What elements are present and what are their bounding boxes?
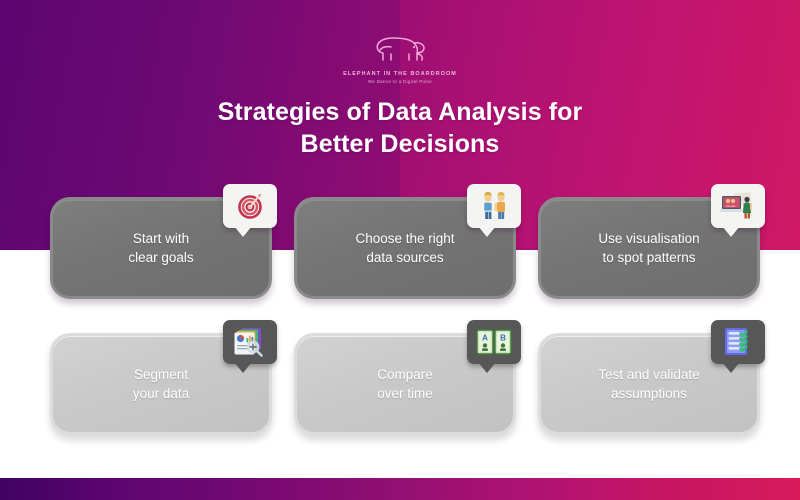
card-label: Test and validate assumptions	[551, 365, 747, 403]
icon-bubble	[223, 184, 277, 228]
icon-bubble	[711, 320, 765, 364]
card-segment-your-data[interactable]: Segment your data	[50, 333, 272, 435]
svg-text:A: A	[482, 334, 488, 343]
card-label: Use visualisation to spot patterns	[551, 229, 747, 267]
icon-bubble	[223, 320, 277, 364]
card-choose-the-right-data-sources[interactable]: Choose the right data sources	[294, 197, 516, 299]
svg-text:B: B	[500, 334, 506, 343]
card-compare-over-time[interactable]: Compare over time A B	[294, 333, 516, 435]
background-band-bottom	[0, 478, 800, 500]
card-label: Segment your data	[63, 365, 259, 403]
card-row-top: Start with clear goals	[50, 197, 760, 333]
page-title: Strategies of Data Analysis for Better D…	[100, 96, 700, 160]
card-label: Choose the right data sources	[307, 229, 503, 267]
card-grid: Start with clear goals	[50, 197, 760, 469]
card-row-bottom: Segment your data	[50, 333, 760, 469]
card-label: Start with clear goals	[63, 229, 259, 267]
card-label: Compare over time	[307, 365, 503, 403]
card-use-visualisation-to-spot-patterns[interactable]: Use visualisation to spot patterns	[538, 197, 760, 299]
card-test-and-validate-assumptions[interactable]: Test and validate assumptions	[538, 333, 760, 435]
infographic-slide: ELEPHANT IN THE BOARDROOM We Dance to a …	[0, 0, 800, 500]
icon-bubble: A B	[467, 320, 521, 364]
card-start-with-clear-goals[interactable]: Start with clear goals	[50, 197, 272, 299]
icon-bubble	[467, 184, 521, 228]
icon-bubble	[711, 184, 765, 228]
